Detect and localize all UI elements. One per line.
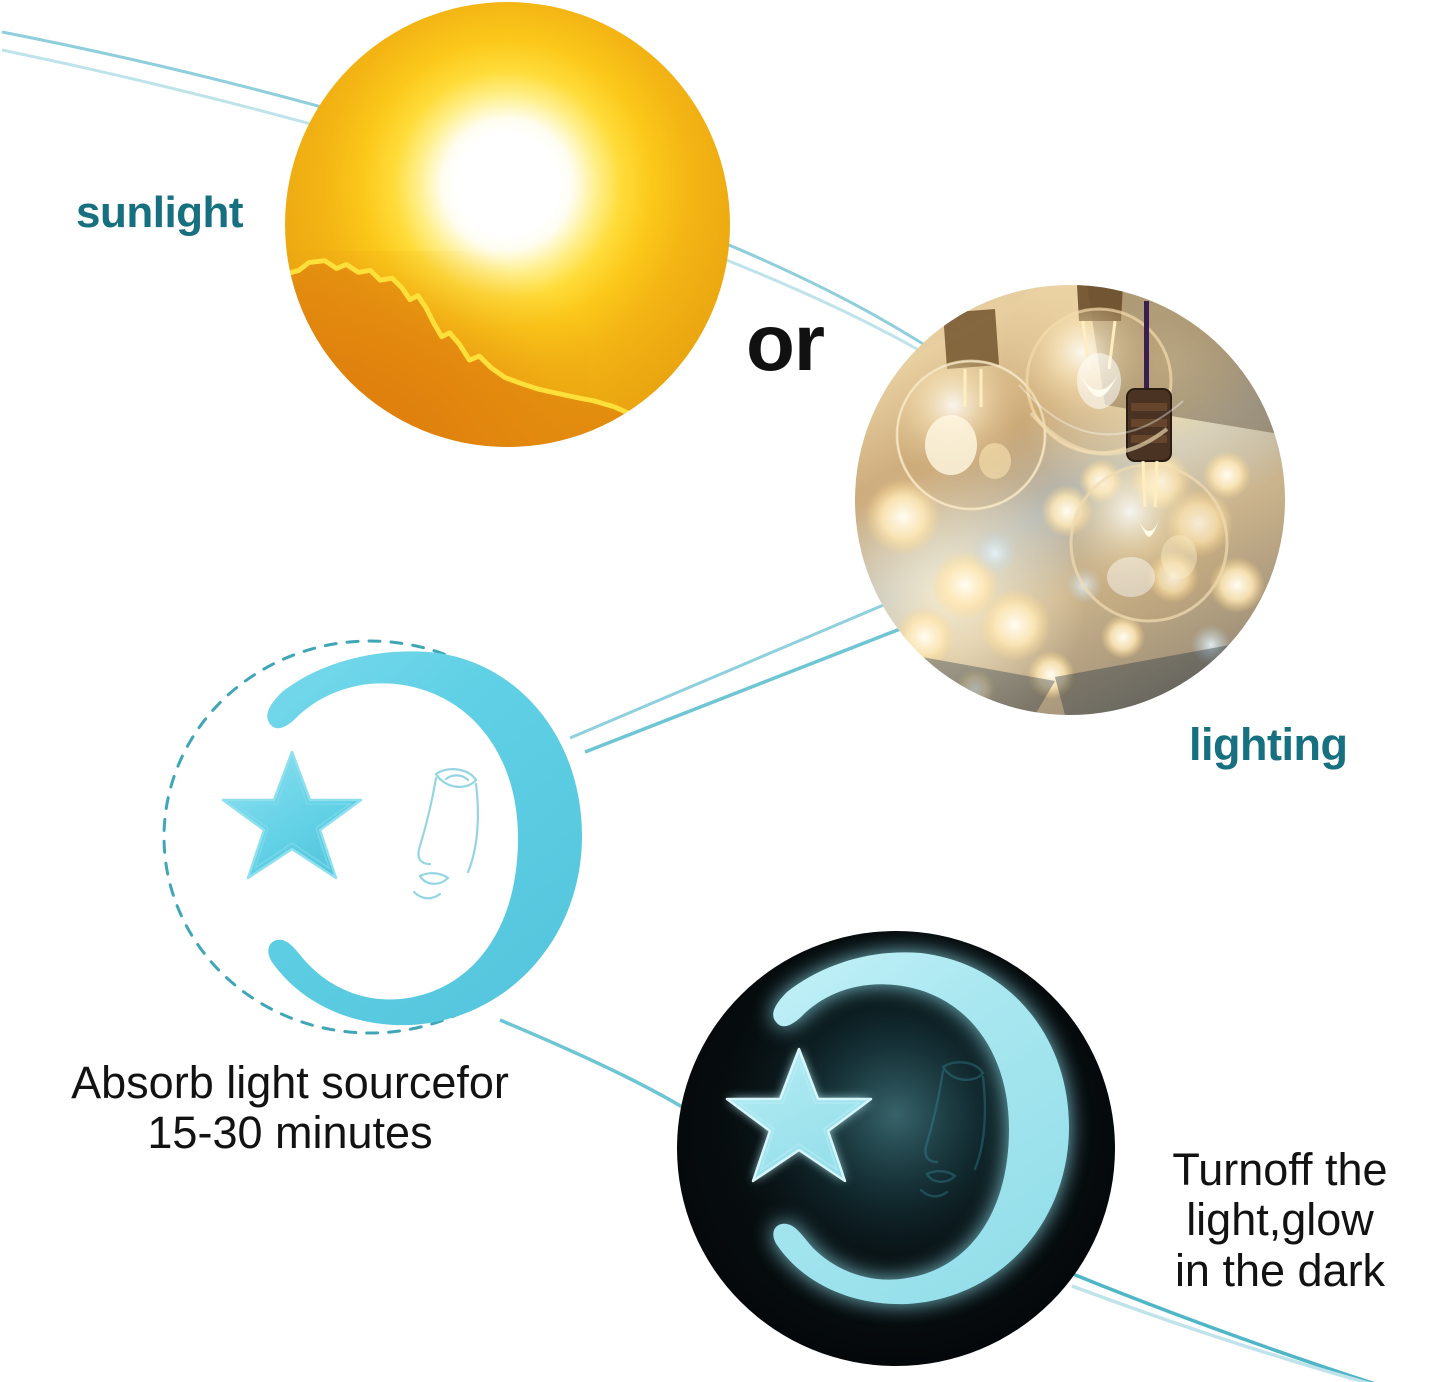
label-turnoff-line-3: in the dark xyxy=(1140,1246,1420,1296)
infographic-canvas: sunlight or lighting Absorb light source… xyxy=(0,0,1445,1382)
label-lighting: lighting xyxy=(1189,722,1347,767)
label-absorb-line-1: Absorb light sourcefor xyxy=(40,1058,540,1108)
label-sunlight: sunlight xyxy=(76,191,243,235)
label-absorb-line-2: 15-30 minutes xyxy=(40,1108,540,1158)
labels-layer: sunlight or lighting Absorb light source… xyxy=(0,0,1445,1382)
label-absorb-light-source: Absorb light sourcefor 15-30 minutes xyxy=(40,1058,540,1159)
label-or: or xyxy=(746,303,824,383)
label-turnoff-the-light: Turnoff the light,glow in the dark xyxy=(1140,1145,1420,1296)
label-turnoff-line-1: Turnoff the xyxy=(1140,1145,1420,1195)
label-turnoff-line-2: light,glow xyxy=(1140,1195,1420,1245)
